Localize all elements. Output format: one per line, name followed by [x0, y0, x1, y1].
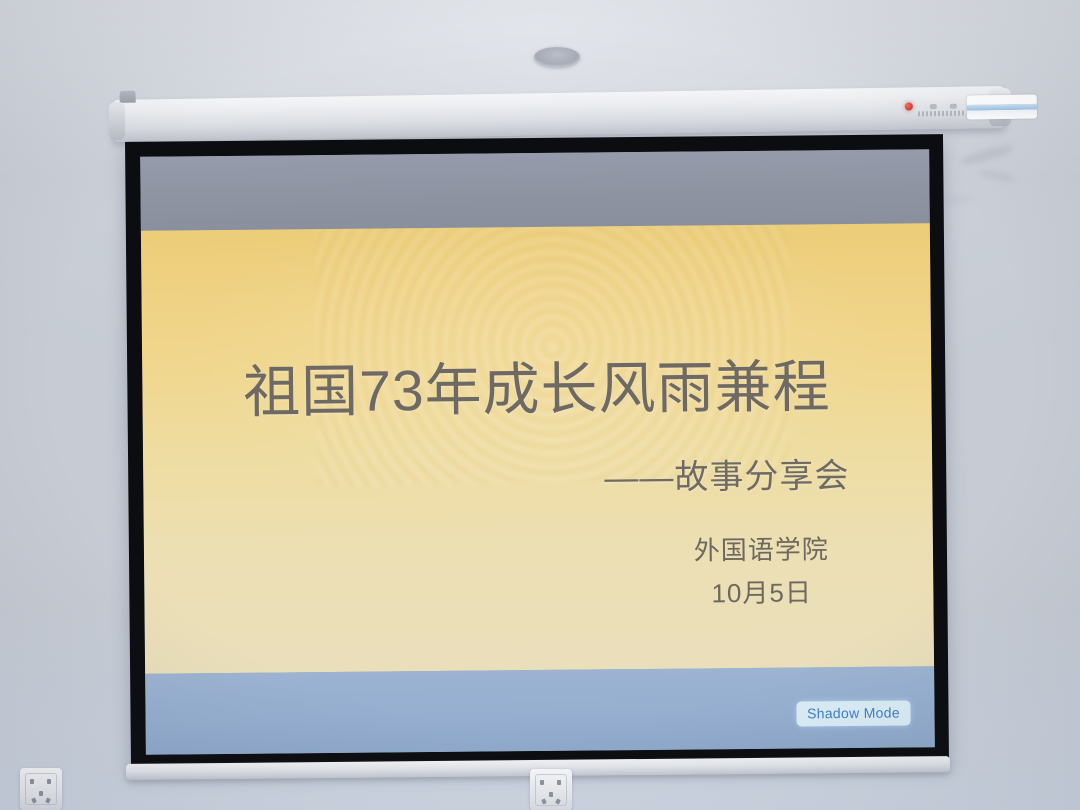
letterbox-band-top [140, 149, 930, 231]
slide-title: 祖国73年成长风雨兼程 [142, 341, 932, 431]
wall-outlet-center[interactable] [530, 769, 572, 810]
power-led-icon [905, 102, 913, 110]
presentation-slide: 祖国73年成长风雨兼程 ——故事分享会 外国语学院 10月5日 [141, 223, 934, 673]
outlet-slot [557, 780, 561, 785]
slide-subtitle: ——故事分享会 [604, 448, 849, 499]
roller-printed-text [918, 111, 964, 117]
outlet-faceplate [25, 773, 57, 805]
outlet-slot [39, 791, 43, 796]
ceiling-light-icon [534, 47, 580, 67]
outlet-slot [540, 780, 544, 785]
outlet-slot [30, 779, 34, 784]
slide-date: 10月5日 [711, 572, 812, 610]
outlet-faceplate [535, 774, 567, 806]
slide-organization: 外国语学院 [694, 530, 829, 568]
projected-image-area: 祖国73年成长风雨兼程 ——故事分享会 外国语学院 10月5日 Shadow M… [140, 149, 935, 755]
projection-room-photo: 祖国73年成长风雨兼程 ——故事分享会 外国语学院 10月5日 Shadow M… [0, 0, 1080, 810]
projection-screen: 祖国73年成长风雨兼程 ——故事分享会 外国语学院 10月5日 Shadow M… [125, 134, 949, 768]
wall-outlet-left[interactable] [20, 768, 62, 810]
roller-button[interactable] [950, 104, 957, 109]
roller-button[interactable] [930, 104, 937, 109]
roller-end-cap-left [109, 102, 126, 140]
shadow-mode-watermark: Shadow Mode [796, 701, 911, 727]
roller-mount-bracket [120, 91, 136, 103]
outlet-slot [47, 779, 51, 784]
outlet-slot [549, 792, 553, 797]
roller-brand-label [967, 94, 1037, 119]
